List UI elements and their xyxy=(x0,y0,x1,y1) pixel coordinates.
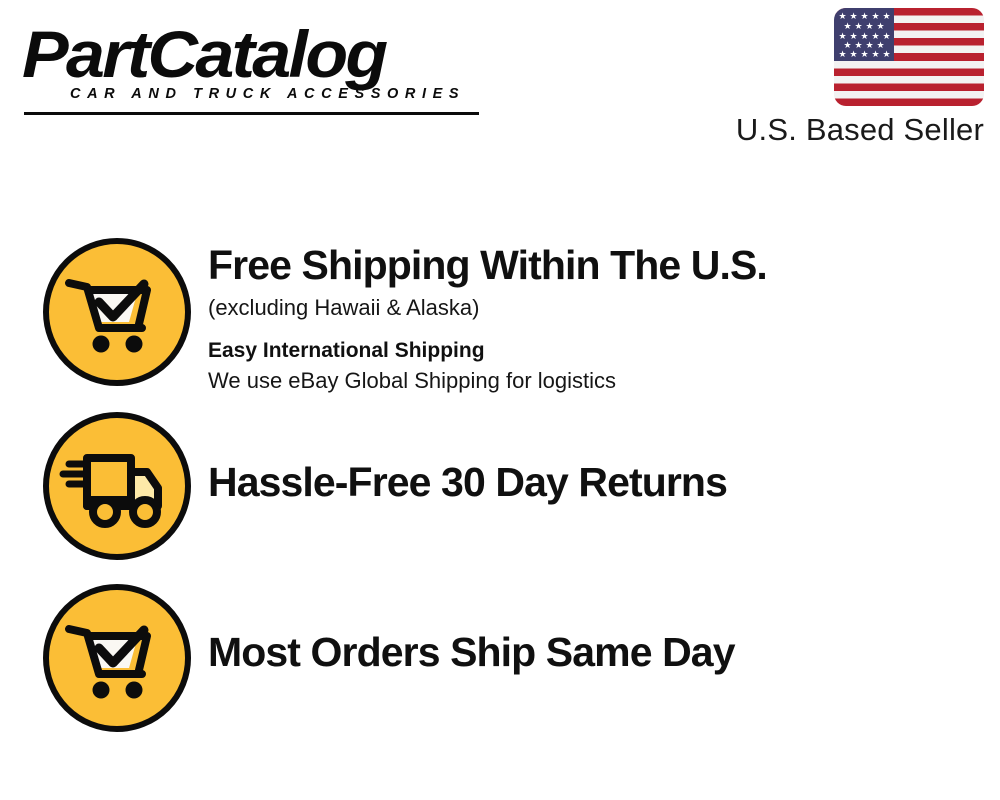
feature-note: (excluding Hawaii & Alaska) xyxy=(208,293,1000,323)
cart-check-glyph xyxy=(43,584,191,732)
feature-title: Free Shipping Within The U.S. xyxy=(208,240,1000,290)
cart-check-glyph xyxy=(43,238,191,386)
us-based-seller-badge: ★ ★ ★ ★ ★ ★ ★ ★ ★ ★ ★ ★ ★ ★ ★ ★ ★ ★ ★ ★ … xyxy=(714,8,984,148)
us-based-seller-label: U.S. Based Seller xyxy=(714,112,984,148)
feature-title: Most Orders Ship Same Day xyxy=(208,627,1000,677)
feature-text-block: Free Shipping Within The U.S. (excluding… xyxy=(208,238,1000,396)
feature-sub-note: We use eBay Global Shipping for logistic… xyxy=(208,366,1000,396)
feature-text-block: Hassle-Free 30 Day Returns xyxy=(208,412,1000,507)
us-flag-icon: ★ ★ ★ ★ ★ ★ ★ ★ ★ ★ ★ ★ ★ ★ ★ ★ ★ ★ ★ ★ … xyxy=(834,8,984,106)
feature-item: Most Orders Ship Same Day xyxy=(0,584,1000,732)
brand-logo: PartCatalog CAR AND TRUCK ACCESSORIES xyxy=(22,18,492,102)
delivery-truck-glyph xyxy=(43,412,191,560)
feature-title: Hassle-Free 30 Day Returns xyxy=(208,457,1000,507)
brand-wordmark: PartCatalog xyxy=(22,18,520,90)
delivery-truck-icon xyxy=(43,412,191,560)
shopping-cart-check-icon xyxy=(43,584,191,732)
feature-item: Hassle-Free 30 Day Returns xyxy=(0,412,1000,560)
feature-text-block: Most Orders Ship Same Day xyxy=(208,584,1000,677)
brand-underline-rule xyxy=(24,112,479,115)
shopping-cart-check-icon xyxy=(43,238,191,386)
feature-item: Free Shipping Within The U.S. (excluding… xyxy=(0,238,1000,396)
feature-sub-title: Easy International Shipping xyxy=(208,336,1000,365)
flag-stars: ★ ★ ★ ★ ★ ★ ★ ★ ★ ★ ★ ★ ★ ★ ★ ★ ★ ★ ★ ★ … xyxy=(834,8,894,61)
